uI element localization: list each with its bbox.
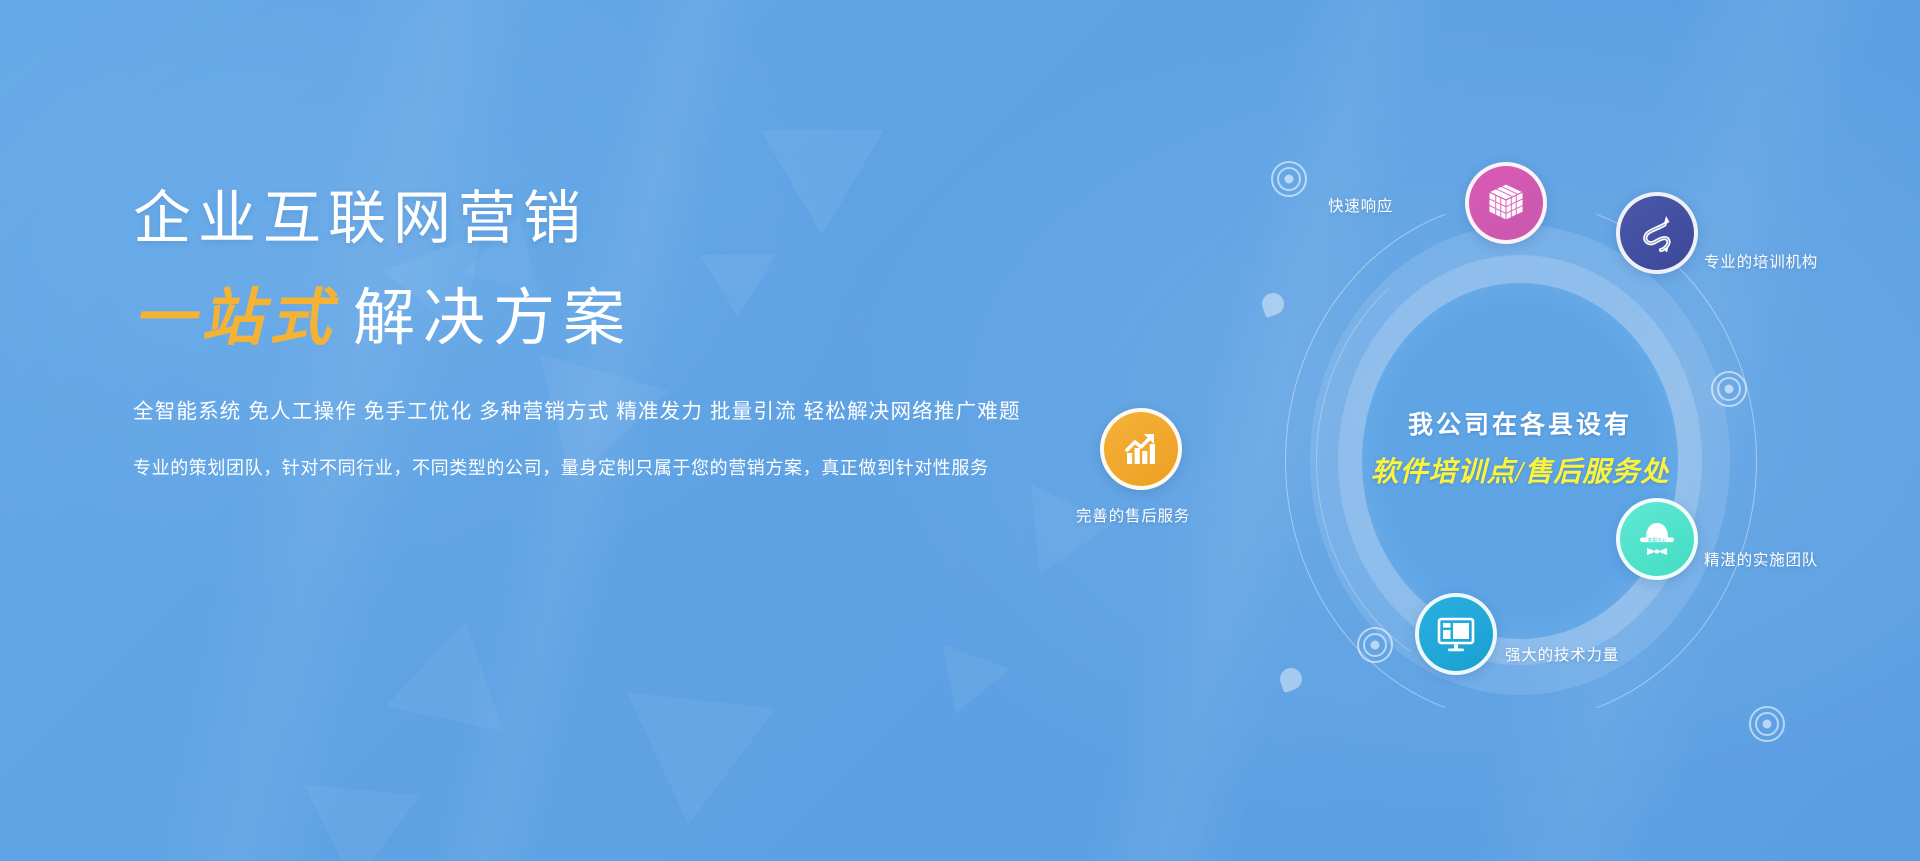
service-hat-caption: 客服中心 — [1648, 536, 1667, 543]
bullseye-icon — [1358, 628, 1392, 662]
diagram-node-after-sales-service[interactable]: 完善的售后服务 — [1100, 408, 1182, 490]
monitor-icon — [1433, 611, 1479, 657]
pencil-s-icon — [1633, 209, 1681, 257]
fast-response-disc[interactable] — [1465, 162, 1547, 244]
decorative-blob — [1259, 290, 1287, 318]
hero-copy: 企业互联网营销 一站式解决方案 全智能系统 免人工操作 免手工优化 多种营销方式… — [133, 190, 1053, 480]
bullseye-icon — [1750, 707, 1784, 741]
decorative-blob — [1277, 665, 1305, 693]
diagram-node-skilled-implementation[interactable]: 客服中心 精湛的实施团队 — [1616, 498, 1698, 580]
hero-accent-text: 一站式 — [133, 288, 353, 350]
professional-training-disc[interactable] — [1616, 192, 1698, 274]
hero-subtitle: 一站式解决方案 — [133, 288, 1053, 350]
background-triangle — [296, 785, 420, 861]
background-triangle — [998, 484, 1114, 594]
background-triangle — [614, 693, 776, 833]
rubiks-cube-icon — [1483, 180, 1529, 226]
page-title: 企业互联网营销 — [133, 190, 1053, 248]
hero-description-line: 专业的策划团队，针对不同行业，不同类型的公司，量身定制只属于您的营销方案，真正做… — [133, 454, 1053, 480]
strong-technology-disc[interactable] — [1415, 593, 1497, 675]
service-hat-icon: 客服中心 — [1632, 514, 1682, 564]
banner-stage: 企业互联网营销 一站式解决方案 全智能系统 免人工操作 免手工优化 多种营销方式… — [0, 0, 1920, 861]
background-triangle — [386, 609, 524, 732]
after-sales-service-disc[interactable] — [1100, 408, 1182, 490]
bullseye-icon — [1712, 372, 1746, 406]
diagram-node-label: 快速响应 — [1328, 194, 1393, 216]
diagram-node-label: 专业的培训机构 — [1704, 250, 1818, 272]
service-diagram: 我公司在各县设有 软件培训点/售后服务处 — [1100, 150, 1860, 770]
diagram-node-professional-training[interactable]: 专业的培训机构 — [1616, 192, 1698, 274]
hero-feature-line: 全智能系统 免人工操作 免手工优化 多种营销方式 精准发力 批量引流 轻松解决网… — [133, 394, 1053, 424]
diagram-node-fast-response[interactable]: 快速响应 — [1465, 162, 1547, 244]
hero-subtitle-text: 解决方案 — [353, 284, 633, 353]
bullseye-icon — [1272, 162, 1306, 196]
growth-chart-icon — [1118, 426, 1164, 472]
diagram-node-label: 精湛的实施团队 — [1704, 548, 1818, 570]
diagram-node-strong-technology[interactable]: 强大的技术力量 — [1415, 593, 1497, 675]
background-triangle — [922, 644, 1010, 725]
diagram-node-label: 强大的技术力量 — [1505, 643, 1619, 665]
skilled-implementation-disc[interactable]: 客服中心 — [1616, 498, 1698, 580]
diagram-node-label: 完善的售后服务 — [1076, 504, 1190, 526]
